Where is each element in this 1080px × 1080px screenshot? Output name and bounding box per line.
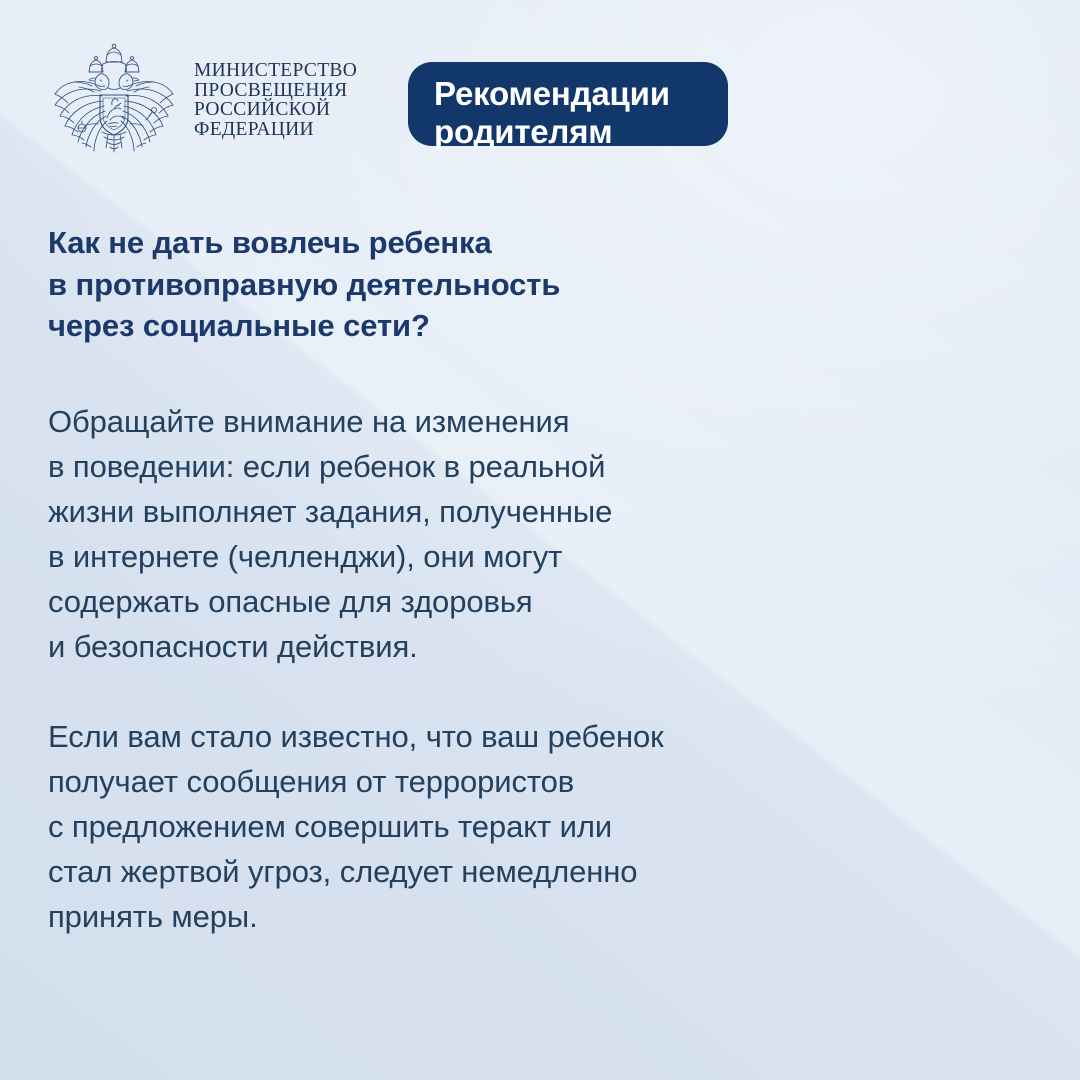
headline-line-2: в противоправную деятельность — [48, 264, 848, 306]
ministry-name-line-2: ПРОСВЕЩЕНИЯ — [194, 81, 357, 101]
paragraph-1-line-1: Обращайте внимание на изменения — [48, 399, 848, 444]
paragraph-1-line-4: в интернете (челленджи), они могут — [48, 534, 848, 579]
recommendation-poster: МИНИСТЕРСТВО ПРОСВЕЩЕНИЯ РОССИЙСКОЙ ФЕДЕ… — [0, 0, 1080, 1080]
paragraph-1-line-3: жизни выполняет задания, полученные — [48, 489, 848, 534]
headline-line-3: через социальные сети? — [48, 305, 848, 347]
russian-double-headed-eagle-emblem-icon — [44, 40, 184, 160]
headline-line-1: Как не дать вовлечь ребенка — [48, 222, 848, 264]
paragraph-2-line-2: получает сообщения от террористов — [48, 759, 848, 804]
ministry-name-line-3: РОССИЙСКОЙ — [194, 100, 357, 120]
page-title: Как не дать вовлечь ребенка в противопра… — [48, 222, 848, 347]
paragraph-1-line-2: в поведении: если ребенок в реальной — [48, 444, 848, 489]
ministry-branding: МИНИСТЕРСТВО ПРОСВЕЩЕНИЯ РОССИЙСКОЙ ФЕДЕ… — [48, 40, 357, 160]
paragraph-2-line-3: с предложением совершить теракт или — [48, 804, 848, 849]
body-paragraph-1: Обращайте внимание на изменения в поведе… — [48, 399, 848, 669]
body-paragraph-2: Если вам стало известно, что ваш ребенок… — [48, 714, 848, 939]
poster-header: МИНИСТЕРСТВО ПРОСВЕЩЕНИЯ РОССИЙСКОЙ ФЕДЕ… — [48, 40, 1032, 160]
poster-content: Как не дать вовлечь ребенка в противопра… — [48, 222, 848, 939]
badge-line-2: родителям — [434, 113, 728, 151]
recommendations-badge-text: Рекомендации родителям — [434, 75, 728, 151]
paragraph-1-line-5: содержать опасные для здоровья — [48, 579, 848, 624]
paragraph-2-line-5: принять меры. — [48, 894, 848, 939]
ministry-name-line-4: ФЕДЕРАЦИИ — [194, 120, 357, 140]
paragraph-1-line-6: и безопасности действия. — [48, 624, 848, 669]
ministry-name: МИНИСТЕРСТВО ПРОСВЕЩЕНИЯ РОССИЙСКОЙ ФЕДЕ… — [194, 61, 357, 139]
paragraph-2-line-1: Если вам стало известно, что ваш ребенок — [48, 714, 848, 759]
recommendations-badge: Рекомендации родителям — [408, 62, 728, 146]
ministry-name-line-1: МИНИСТЕРСТВО — [194, 61, 357, 81]
badge-line-1: Рекомендации — [434, 75, 728, 113]
paragraph-2-line-4: стал жертвой угроз, следует немедленно — [48, 849, 848, 894]
